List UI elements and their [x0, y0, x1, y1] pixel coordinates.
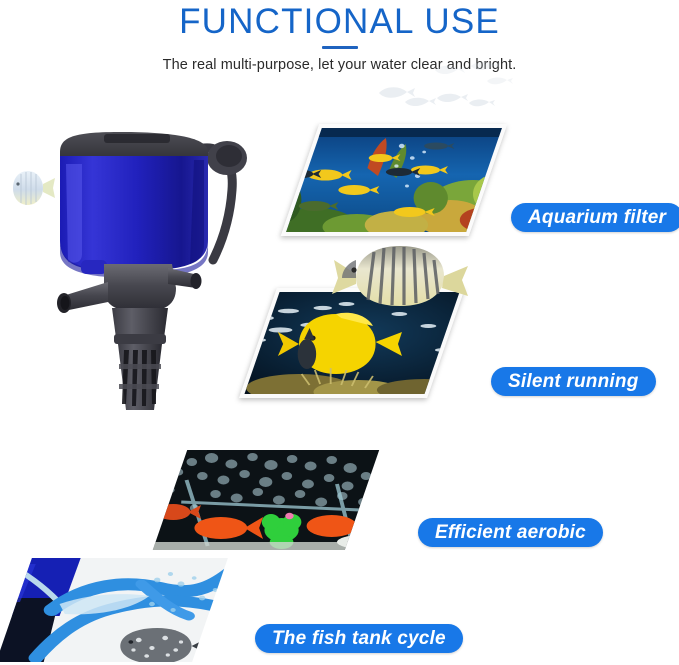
feature-badge-aquarium-filter[interactable]: Aquarium filter [511, 203, 679, 232]
header: FUNCTIONAL USE The real multi-purpose, l… [0, 0, 679, 112]
butterflyfish-icon [328, 244, 472, 312]
page-subtitle: The real multi-purpose, let your water c… [0, 57, 679, 73]
feature-badge-fish-tank-cycle[interactable]: The fish tank cycle [255, 624, 463, 653]
water-circulation-photo[interactable] [0, 558, 228, 662]
community-aquarium-photo[interactable] [281, 124, 508, 236]
title-divider [322, 46, 358, 49]
feature-badge-efficient-aerobic[interactable]: Efficient aerobic [418, 518, 603, 547]
feature-badge-silent-running[interactable]: Silent running [491, 367, 656, 396]
submersible-pump-image [8, 112, 270, 412]
oxygenated-tank-photo[interactable] [153, 450, 379, 550]
page-title: FUNCTIONAL USE [0, 2, 679, 42]
